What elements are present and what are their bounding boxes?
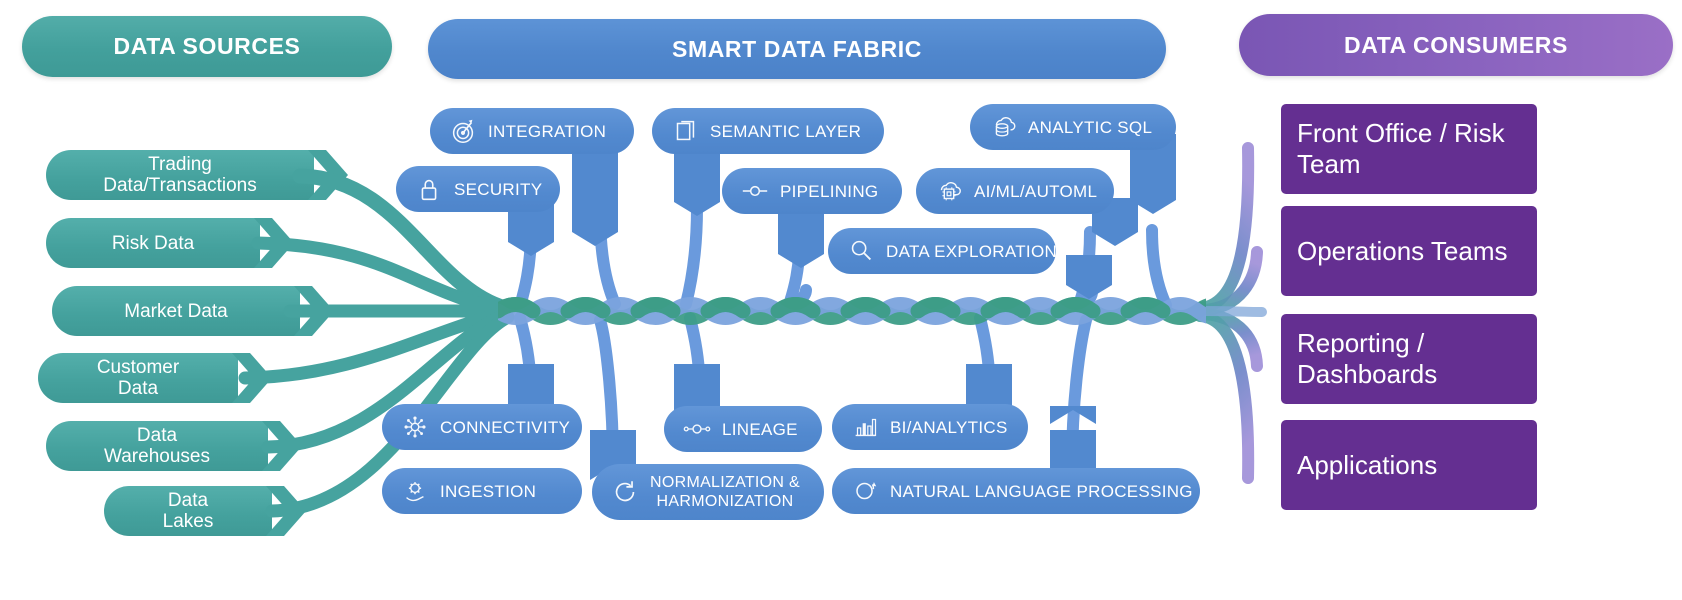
capability-label: BI/ANALYTICS	[890, 418, 1008, 437]
diagram-canvas: DATA SOURCES SMART DATA FABRIC DATA CONS…	[0, 0, 1682, 600]
lock-icon	[414, 174, 444, 204]
capability-ingestion[interactable]: INGESTION	[382, 468, 582, 514]
target-icon	[448, 116, 478, 146]
capability-analytic-sql[interactable]: ANALYTIC SQL	[970, 104, 1176, 150]
pipeline-node-icon	[740, 176, 770, 206]
capability-label-line1: NORMALIZATION &	[650, 474, 800, 491]
capability-normalization-harmonization[interactable]: NORMALIZATION & HARMONIZATION	[592, 464, 824, 520]
capability-label: NATURAL LANGUAGE PROCESSING	[890, 482, 1193, 501]
lineage-node-icon	[682, 414, 712, 444]
cloud-database-icon	[988, 112, 1018, 142]
capability-pipelining[interactable]: PIPELINING	[722, 168, 902, 214]
capability-label: LINEAGE	[722, 420, 798, 439]
capability-label: PIPELINING	[780, 182, 878, 201]
capability-label: AI/ML/AUTOML	[974, 182, 1097, 201]
refresh-cycle-icon	[610, 477, 640, 507]
capability-data-exploration[interactable]: DATA EXPLORATION	[828, 228, 1056, 274]
capability-label: INGESTION	[440, 482, 536, 501]
capability-security[interactable]: SECURITY	[396, 166, 560, 212]
capability-label: NORMALIZATION & HARMONIZATION	[650, 473, 800, 511]
capability-label: INTEGRATION	[488, 122, 606, 141]
capability-label-line2: HARMONIZATION	[657, 493, 794, 510]
bar-chart-icon	[850, 412, 880, 442]
cloud-chip-icon	[934, 176, 964, 206]
gear-hand-icon	[400, 476, 430, 506]
capability-label: CONNECTIVITY	[440, 418, 570, 437]
capability-natural-language-processing[interactable]: NATURAL LANGUAGE PROCESSING	[832, 468, 1200, 514]
capability-integration[interactable]: INTEGRATION	[430, 108, 634, 154]
capability-semantic-layer[interactable]: SEMANTIC LAYER	[652, 108, 884, 154]
magnifier-icon	[846, 236, 876, 266]
capability-connectivity[interactable]: CONNECTIVITY	[382, 404, 582, 450]
capability-label: ANALYTIC SQL	[1028, 118, 1152, 137]
documents-icon	[670, 116, 700, 146]
chip-stems	[0, 0, 1682, 600]
capability-label: DATA EXPLORATION	[886, 242, 1057, 261]
capability-label: SECURITY	[454, 180, 542, 199]
speech-cycle-icon	[850, 476, 880, 506]
capability-bi-analytics[interactable]: BI/ANALYTICS	[832, 404, 1028, 450]
network-hub-icon	[400, 412, 430, 442]
capability-label: SEMANTIC LAYER	[710, 122, 861, 141]
capability-ai-ml-automl[interactable]: AI/ML/AUTOML	[916, 168, 1114, 214]
capability-lineage[interactable]: LINEAGE	[664, 406, 822, 452]
